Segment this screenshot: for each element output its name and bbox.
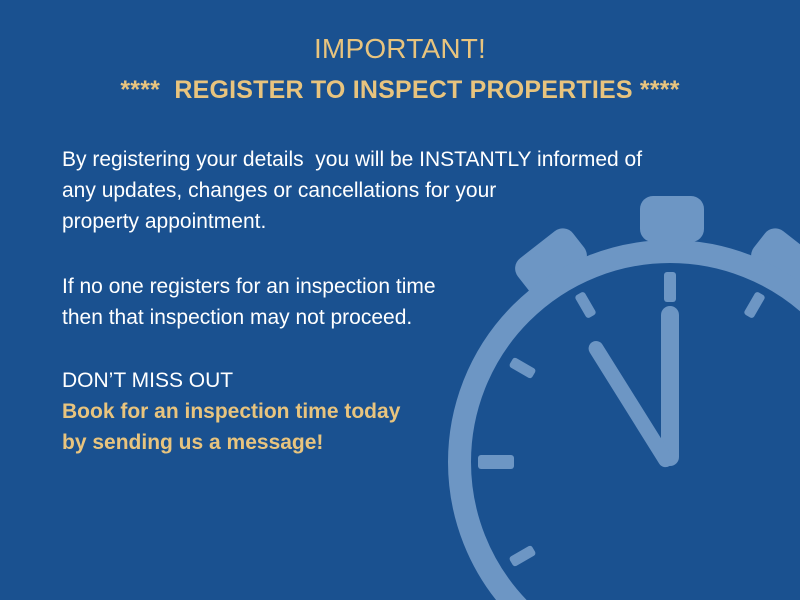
page-title: IMPORTANT!: [0, 30, 800, 68]
slide-content: IMPORTANT! **** REGISTER TO INSPECT PROP…: [0, 0, 800, 600]
body-block: By registering your details you will be …: [62, 144, 722, 458]
paragraph-no-registration: If no one registers for an inspection ti…: [62, 271, 722, 333]
paragraph-1-line-1: By registering your details you will be …: [62, 144, 722, 175]
paragraph-spacer-1: [62, 237, 722, 271]
slide-canvas: IMPORTANT! **** REGISTER TO INSPECT PROP…: [0, 0, 800, 600]
paragraph-2-line-2: then that inspection may not proceed.: [62, 302, 722, 333]
paragraph-2-line-1: If no one registers for an inspection ti…: [62, 271, 722, 302]
paragraph-1-line-3: property appointment.: [62, 206, 722, 237]
paragraph-spacer-2: [62, 333, 722, 365]
page-subtitle: **** REGISTER TO INSPECT PROPERTIES ****: [0, 72, 800, 108]
cta-line-2: Book for an inspection time today: [62, 396, 722, 427]
paragraph-1-line-2: any updates, changes or cancellations fo…: [62, 175, 722, 206]
cta-book-inspection: Book for an inspection time today by sen…: [62, 396, 722, 458]
cta-dont-miss-out: DON’T MISS OUT: [62, 365, 722, 396]
call-to-action-block: DON’T MISS OUT Book for an inspection ti…: [62, 365, 722, 458]
cta-line-3: by sending us a message!: [62, 427, 722, 458]
paragraph-registering: By registering your details you will be …: [62, 144, 722, 237]
heading-block: IMPORTANT! **** REGISTER TO INSPECT PROP…: [0, 30, 800, 108]
